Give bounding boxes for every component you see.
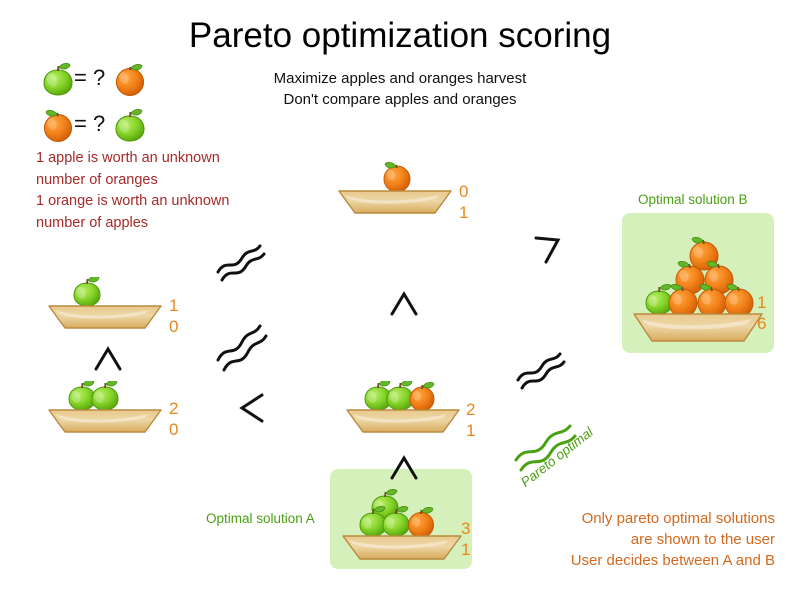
apple-icon [110,104,150,144]
page-subtitle: Maximize apples and oranges harvest Don'… [230,68,570,110]
legend-row-apple-equals-orange: = ? [38,58,150,98]
bowl-shape [49,410,161,432]
score-apples: 2 [169,398,178,419]
note-red-line-1: 1 apple is worth an unknown [36,148,296,170]
bowl-2-0 [45,381,165,441]
note-red-line-2: number of oranges [36,170,296,192]
score-oranges: 6 [757,313,766,334]
note-orange: Only pareto optimal solutions are shown … [500,508,775,571]
score-oranges: 0 [169,316,178,337]
bowl-shape [49,306,161,328]
page-title: Pareto optimization scoring [0,16,800,56]
score-bowl-3-1: 3 1 [461,518,470,560]
legend-equals-question-1: = ? [74,65,105,91]
apple-icon [646,284,672,314]
note-red-line-3: 1 orange is worth an unknown [36,191,296,213]
orange-icon [725,284,753,317]
legend-row-orange-equals-apple: = ? [38,104,150,144]
approximately-equal-icon [212,238,284,283]
diagram-canvas: Pareto optimization scoring Maximize app… [0,0,800,600]
score-oranges: 1 [459,202,468,223]
label-optimal-solution-b: Optimal solution B [638,192,748,207]
score-apples: 0 [459,181,468,202]
apple-icon [360,506,386,536]
note-red: 1 apple is worth an unknown number of or… [36,148,296,234]
legend-equals-question-2: = ? [74,111,105,137]
apple-icon [92,381,118,410]
note-orange-line-2: are shown to the user [500,529,775,550]
bowl-2-1 [343,381,463,441]
score-bowl-0-1: 0 1 [459,181,468,223]
bowl-3-1 [337,482,467,567]
orange-icon [384,162,410,192]
score-apples: 1 [169,295,178,316]
approximately-equal-icon [512,348,584,393]
bowl-0-1 [335,162,455,222]
less-than-icon [234,391,268,425]
subtitle-line-2: Don't compare apples and oranges [230,89,570,110]
apple-icon [69,381,95,410]
orange-icon [38,104,78,144]
note-orange-line-1: Only pareto optimal solutions [500,508,775,529]
label-optimal-solution-a: Optimal solution A [206,511,315,526]
score-bowl-2-1: 2 1 [466,399,475,441]
note-red-line-4: number of apples [36,213,296,235]
score-oranges: 1 [461,539,470,560]
bowl-shape [634,314,762,341]
less-than-icon [388,452,420,482]
orange-icon [110,58,150,98]
bowl-1-0 [45,277,165,337]
orange-icon [410,382,434,411]
less-than-icon [388,288,420,318]
bowl-shape [347,410,459,432]
greater-than-icon [530,234,564,268]
note-orange-line-3: User decides between A and B [500,550,775,571]
score-oranges: 0 [169,419,178,440]
bowl-shape [339,191,451,213]
score-apples: 1 [757,292,766,313]
apple-icon [38,58,78,98]
approximately-equal-icon [212,318,284,373]
score-apples: 3 [461,518,470,539]
score-bowl-1-6: 1 6 [757,292,766,334]
score-oranges: 1 [466,420,475,441]
subtitle-line-1: Maximize apples and oranges harvest [230,68,570,89]
apple-icon [74,277,100,306]
score-bowl-2-0: 2 0 [169,398,178,440]
score-apples: 2 [466,399,475,420]
bowl-shape [343,536,461,559]
bowl-1-6 [628,225,768,350]
less-than-icon [92,343,124,373]
apple-icon [387,381,413,410]
score-bowl-1-0: 1 0 [169,295,178,337]
orange-icon [409,507,434,537]
